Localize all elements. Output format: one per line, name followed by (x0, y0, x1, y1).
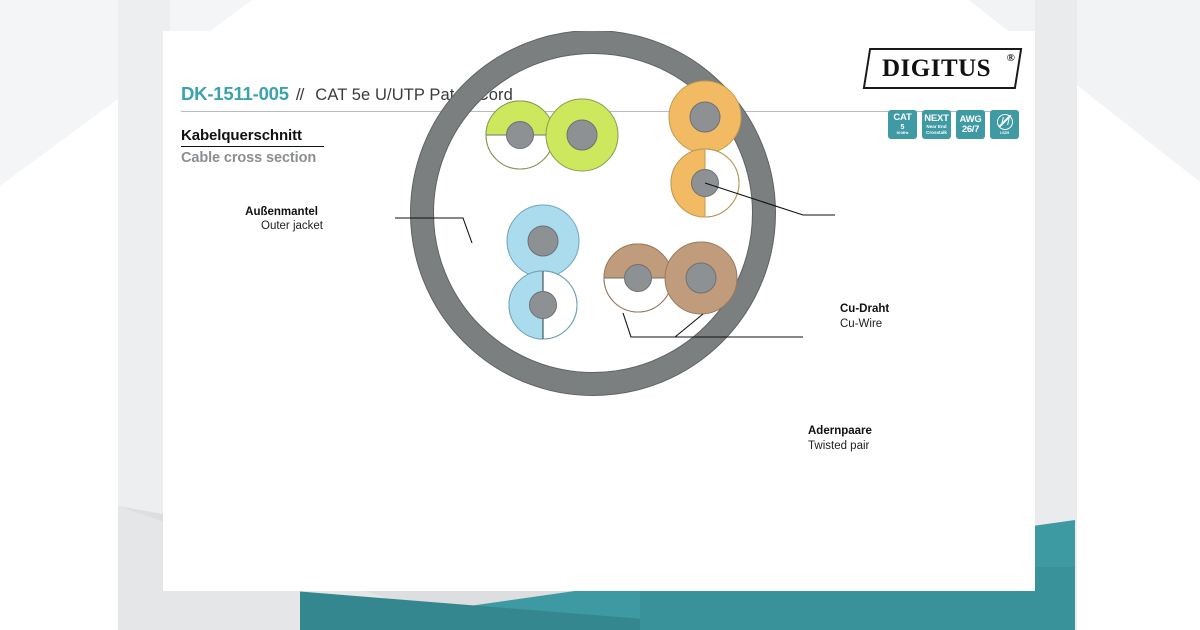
callout-outer-jacket: Außenmantel Outer jacket (245, 206, 472, 243)
callout-twisted-pair-en: Twisted pair (808, 440, 870, 452)
content-card: DIGITUS ® DK-1511-005 // CAT 5e U/UTP Pa… (163, 31, 1035, 591)
pair-orange (669, 81, 741, 217)
callout-outer-jacket-de: Außenmantel (245, 206, 318, 218)
pair-blue (507, 205, 579, 339)
callout-twisted-pair-de: Adernpaare (808, 425, 872, 437)
pair-green (486, 99, 618, 171)
callout-outer-jacket-en: Outer jacket (261, 220, 324, 232)
callout-cu-wire-en: Cu-Wire (840, 318, 882, 330)
callout-cu-wire-de: Cu-Draht (840, 303, 889, 315)
screenshot-root: DIGITUS ® DK-1511-005 // CAT 5e U/UTP Pa… (0, 0, 1200, 630)
pair-brown (604, 242, 737, 314)
cable-cross-section-diagram: Außenmantel Outer jacket Cu-Draht Cu-Wir… (163, 31, 1035, 591)
